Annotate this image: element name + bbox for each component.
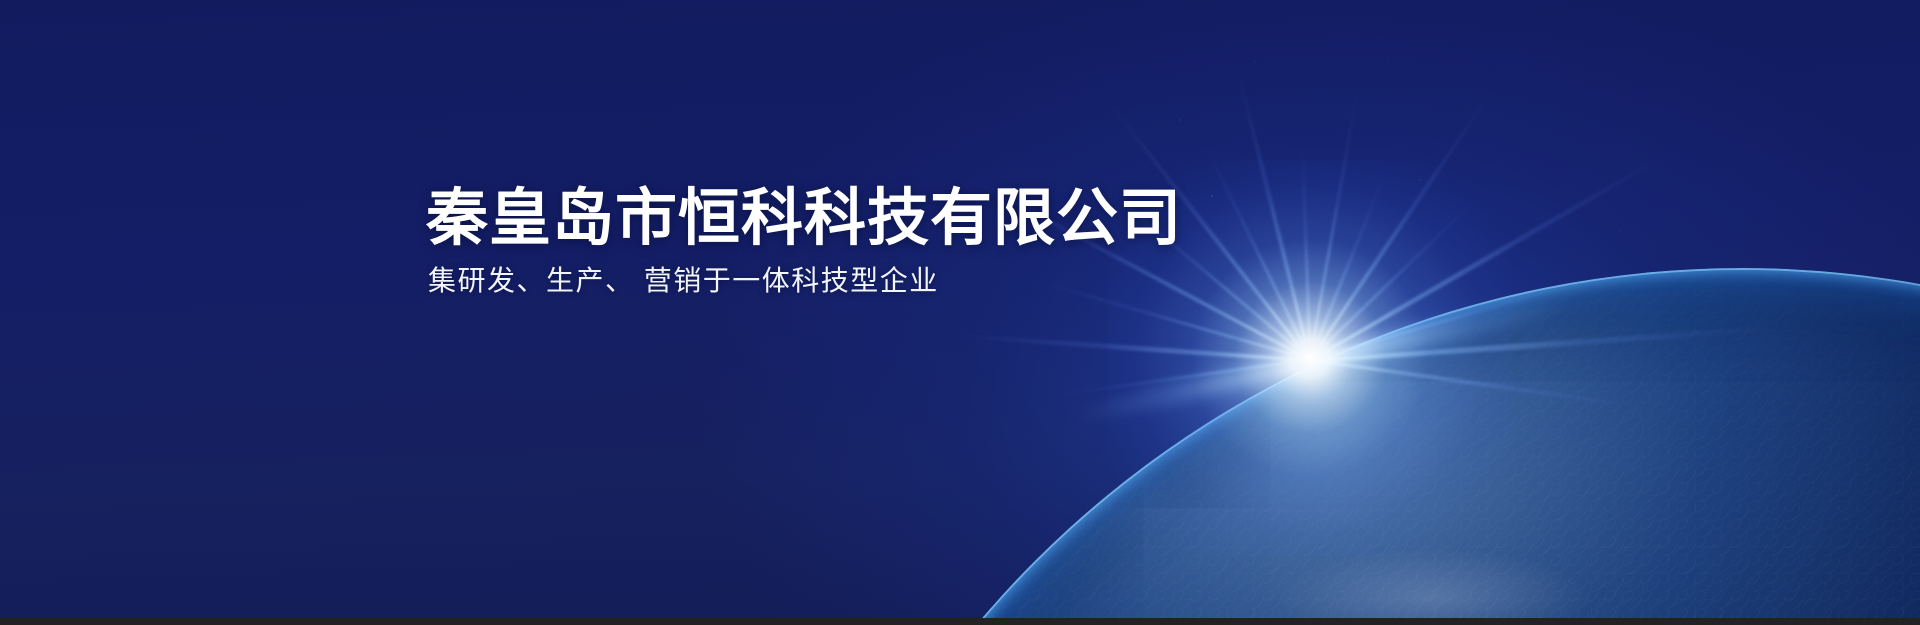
city-lights-speckle	[742, 268, 1920, 625]
globe-container	[0, 0, 1920, 625]
earth-globe-icon	[742, 268, 1920, 625]
company-tagline: 集研发、生产、 营销于一体科技型企业	[428, 263, 1182, 298]
company-title: 秦皇岛市恒科科技有限公司	[426, 186, 1182, 253]
headline-block: 秦皇岛市恒科科技有限公司 集研发、生产、 营销于一体科技型企业	[426, 186, 1182, 298]
bottom-edge-strip	[0, 618, 1920, 625]
hero-banner: 秦皇岛市恒科科技有限公司 集研发、生产、 营销于一体科技型企业	[0, 0, 1920, 625]
